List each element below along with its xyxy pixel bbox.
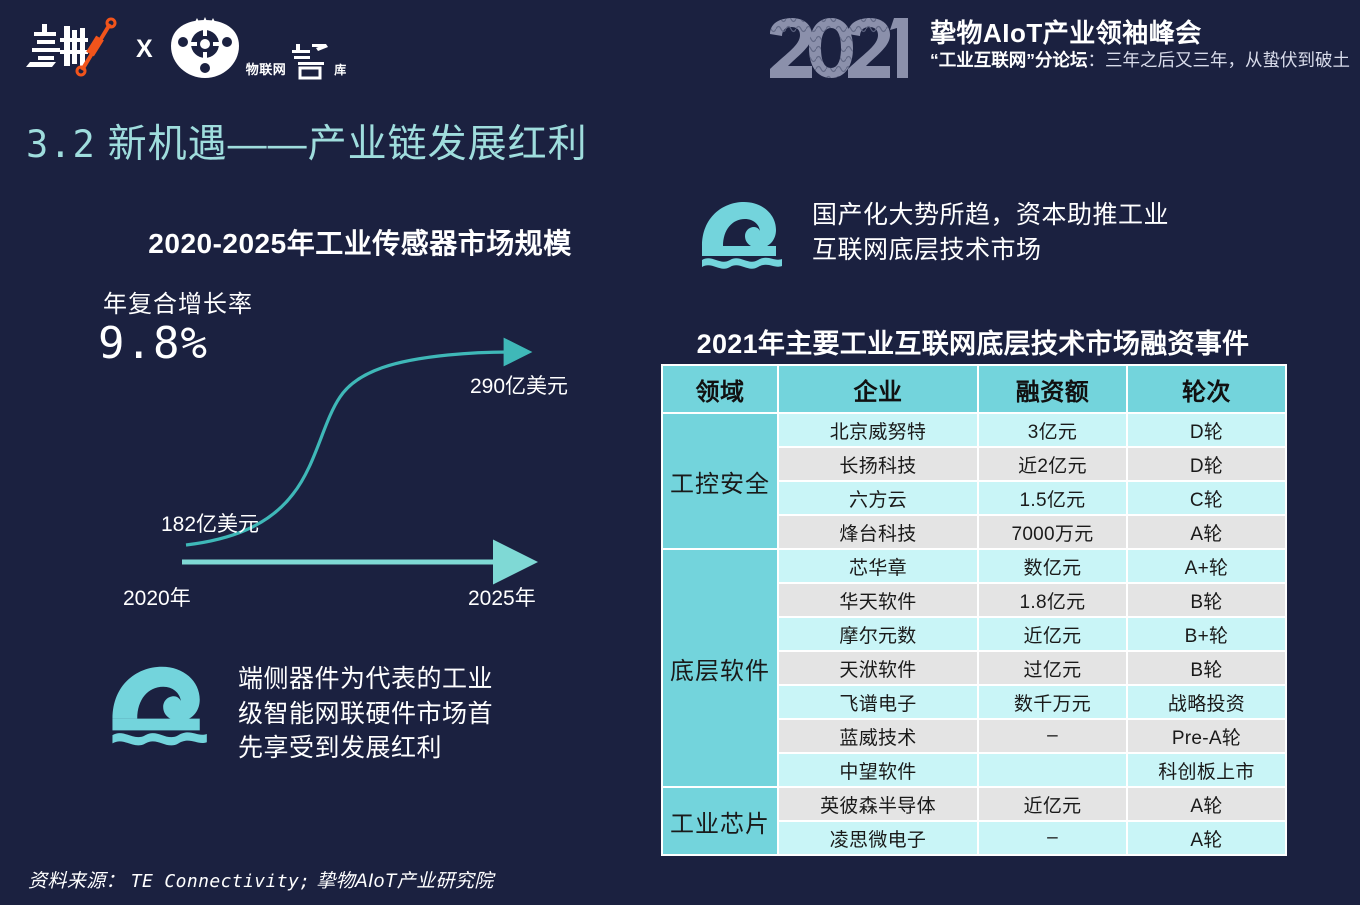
zhiwu-logo-icon: [24, 16, 122, 82]
table-cell-round: 战略投资: [1128, 686, 1285, 718]
callout-line: 级智能网联硬件市场首: [238, 697, 493, 732]
callout-domestic-capital: 国产化大势所趋，资本助推工业 互联网底层技术市场: [700, 198, 1169, 276]
table-cell-domain: 工业芯片: [663, 788, 777, 854]
logo-x-separator: X: [136, 37, 153, 62]
table-cell-amount: 近2亿元: [979, 448, 1126, 480]
iot-shield-icon: [167, 16, 243, 82]
table-cell-amount: 数千万元: [979, 686, 1126, 718]
table-cell-amount: 3亿元: [979, 414, 1126, 446]
callout-line: 先享受到发展红利: [238, 731, 493, 766]
summit-subtitle-forum: “工业互联网”分论坛: [930, 50, 1088, 70]
iot-think-tank-logo: 物联网 库: [167, 16, 347, 82]
table-cell-company: 华天软件: [779, 584, 977, 616]
summit-title: 挚物AIoT产业领袖峰会: [930, 20, 1350, 47]
callout-line: 互联网底层技术市场: [812, 233, 1169, 268]
table-cell-amount: 过亿元: [979, 652, 1126, 684]
logo-bar: X 物联网: [24, 16, 346, 82]
table-cell-round: A轮: [1128, 788, 1285, 820]
table-cell-company: 英彼森半导体: [779, 788, 977, 820]
chart-curve-svg: [78, 222, 638, 612]
table-cell-domain: 工控安全: [663, 414, 777, 548]
table-row: 工业芯片英彼森半导体近亿元A轮: [663, 788, 1285, 820]
callout-line: 国产化大势所趋，资本助推工业: [812, 198, 1169, 233]
table-cell-company: 飞谱电子: [779, 686, 977, 718]
table-cell-company: 芯华章: [779, 550, 977, 582]
table-cell-company: 长扬科技: [779, 448, 977, 480]
chart-axis-label-start: 2020年: [123, 582, 191, 612]
table-cell-round: B轮: [1128, 584, 1285, 616]
table-cell-round: B轮: [1128, 652, 1285, 684]
table-cell-round: A轮: [1128, 822, 1285, 854]
table-row: 工控安全北京威努特3亿元D轮: [663, 414, 1285, 446]
zhi-character-icon: [288, 40, 332, 80]
table-cell-round: 科创板上市: [1128, 754, 1285, 786]
source-institute: 挚物AIoT产业研究院: [316, 871, 494, 892]
summit-subtitle: “工业互联网”分论坛：三年之后又三年，从蛰伏到破土: [930, 51, 1350, 70]
column-header-company: 企业: [779, 366, 977, 412]
source-label: 资料来源：: [28, 871, 125, 892]
financing-events-table: 领域 企业 融资额 轮次 工控安全北京威努特3亿元D轮长扬科技近2亿元D轮六方云…: [661, 364, 1287, 856]
page-title: 3.2 新机遇——产业链发展红利: [26, 113, 588, 169]
table-cell-amount: 7000万元: [979, 516, 1126, 548]
callout-line: 端侧器件为代表的工业: [238, 662, 493, 697]
chart-axis-label-end: 2025年: [468, 582, 536, 612]
column-header-amount: 融资额: [979, 366, 1126, 412]
table-row: 底层软件芯华章数亿元A+轮: [663, 550, 1285, 582]
table-cell-company: 中望软件: [779, 754, 977, 786]
table-cell-amount: 1.8亿元: [979, 584, 1126, 616]
table-cell-amount: 数亿元: [979, 550, 1126, 582]
table-cell-round: C轮: [1128, 482, 1285, 514]
table-cell-company: 凌思微电子: [779, 822, 977, 854]
table-cell-company: 蓝威技术: [779, 720, 977, 752]
table-cell-round: D轮: [1128, 448, 1285, 480]
table-cell-round: D轮: [1128, 414, 1285, 446]
section-number: 3.2: [26, 123, 96, 166]
table-cell-amount: 近亿元: [979, 618, 1126, 650]
source-note: 资料来源： TE Connectivity; 挚物AIoT产业研究院: [28, 866, 494, 893]
table-cell-company: 北京威努特: [779, 414, 977, 446]
iot-label-wulianwang: 物联网: [246, 59, 287, 78]
table-cell-round: A+轮: [1128, 550, 1285, 582]
table-cell-amount: –: [979, 720, 1126, 752]
table-cell-round: Pre-A轮: [1128, 720, 1285, 752]
table-cell-company: 烽台科技: [779, 516, 977, 548]
table-cell-amount: 近亿元: [979, 788, 1126, 820]
slide-canvas: X 物联网: [0, 0, 1360, 905]
column-header-domain: 领域: [663, 366, 777, 412]
iot-label-ku: 库: [334, 61, 346, 78]
table-cell-company: 六方云: [779, 482, 977, 514]
table-cell-amount: 1.5亿元: [979, 482, 1126, 514]
table-header-row: 领域 企业 融资额 轮次: [663, 366, 1285, 412]
table-title: 2021年主要工业互联网底层技术市场融资事件: [661, 322, 1285, 361]
table-cell-amount: –: [979, 822, 1126, 854]
callout-text: 端侧器件为代表的工业 级智能网联硬件市场首 先享受到发展红利: [238, 662, 493, 766]
column-header-round: 轮次: [1128, 366, 1285, 412]
callout-edge-hardware: 端侧器件为代表的工业 级智能网联硬件市场首 先享受到发展红利: [110, 662, 493, 766]
sensor-market-chart: 2020-2025年工业传感器市场规模 年复合增长率 9.8% 290亿美元 1…: [78, 222, 638, 612]
callout-text: 国产化大势所趋，资本助推工业 互联网底层技术市场: [812, 198, 1169, 267]
table-cell-round: A轮: [1128, 516, 1285, 548]
table-body: 工控安全北京威努特3亿元D轮长扬科技近2亿元D轮六方云1.5亿元C轮烽台科技70…: [663, 414, 1285, 854]
summit-subtitle-tagline: ：三年之后又三年，从蛰伏到破土: [1088, 50, 1351, 70]
section-title-text: 新机遇——产业链发展红利: [108, 123, 588, 166]
chart-value-label-2025: 290亿美元: [470, 370, 568, 400]
table-cell-amount: [979, 754, 1126, 786]
table-cell-domain: 底层软件: [663, 550, 777, 786]
table-cell-company: 摩尔元数: [779, 618, 977, 650]
summit-branding: 挚物AIoT产业领袖峰会 “工业互联网”分论坛：三年之后又三年，从蛰伏到破土: [766, 14, 1350, 86]
source-te: TE Connectivity;: [131, 871, 311, 892]
year-2021-graphic: [766, 14, 916, 86]
wave-icon: [700, 198, 788, 276]
wave-icon: [110, 662, 214, 754]
chart-value-label-2020: 182亿美元: [161, 508, 259, 538]
table-cell-company: 天洑软件: [779, 652, 977, 684]
table-cell-round: B+轮: [1128, 618, 1285, 650]
